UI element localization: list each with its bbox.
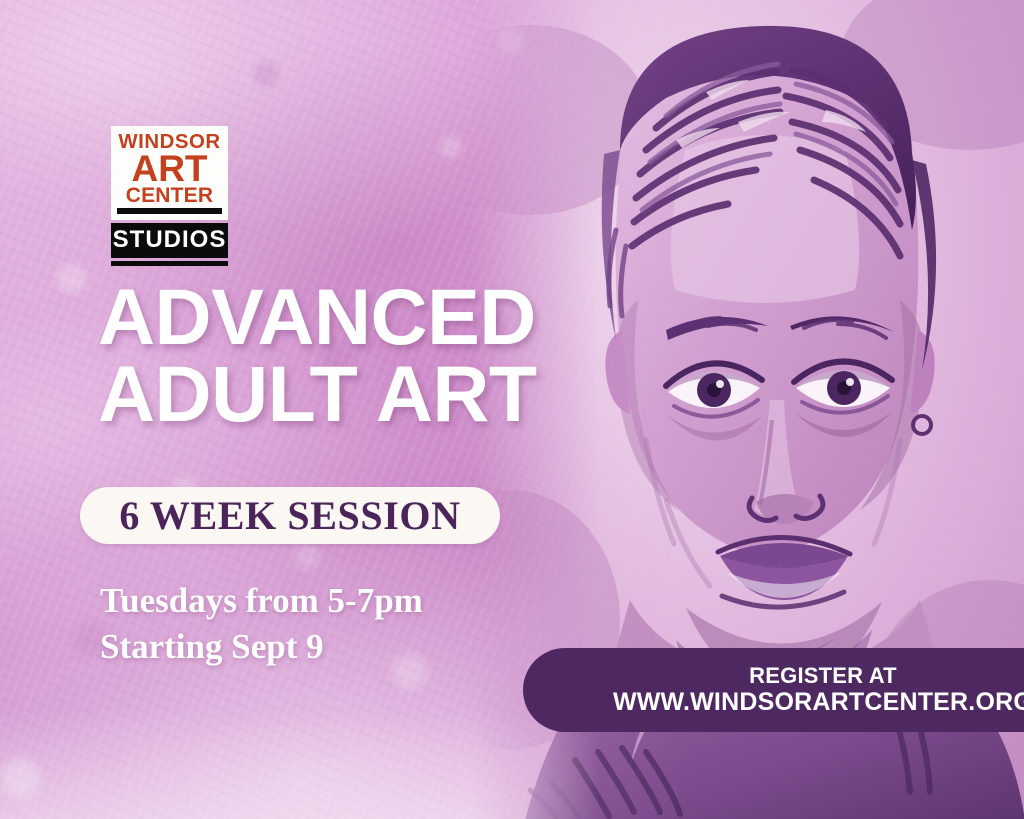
headline-line-1: ADVANCED: [98, 278, 537, 355]
session-badge-label: 6 WEEK SESSION: [119, 492, 460, 539]
schedule-start-date: Starting Sept 9: [100, 624, 423, 670]
logo-studios-bar: STUDIOS: [111, 223, 228, 258]
logo-line-windsor: WINDSOR: [116, 133, 223, 152]
session-badge: 6 WEEK SESSION: [80, 487, 500, 544]
logo-main-block: WINDSOR ART CENTER: [111, 126, 228, 220]
register-banner[interactable]: REGISTER AT WWW.WINDSORARTCENTER.ORG: [523, 648, 1024, 732]
logo-divider-rule: [117, 208, 222, 214]
windsor-art-center-logo[interactable]: WINDSOR ART CENTER STUDIOS: [111, 126, 228, 266]
schedule-details: Tuesdays from 5-7pm Starting Sept 9: [100, 578, 423, 670]
logo-bottom-rule: [111, 261, 228, 266]
logo-line-art: ART: [117, 152, 222, 186]
logo-line-center: CENTER: [117, 186, 222, 206]
headline-line-2: ADULT ART: [98, 355, 537, 432]
register-label: REGISTER AT: [749, 663, 897, 688]
poster-canvas: WINDSOR ART CENTER STUDIOS ADVANCED ADUL…: [0, 0, 1024, 819]
register-url[interactable]: WWW.WINDSORARTCENTER.ORG: [613, 688, 1024, 717]
page-title: ADVANCED ADULT ART: [98, 278, 537, 433]
schedule-time: Tuesdays from 5-7pm: [100, 578, 423, 624]
